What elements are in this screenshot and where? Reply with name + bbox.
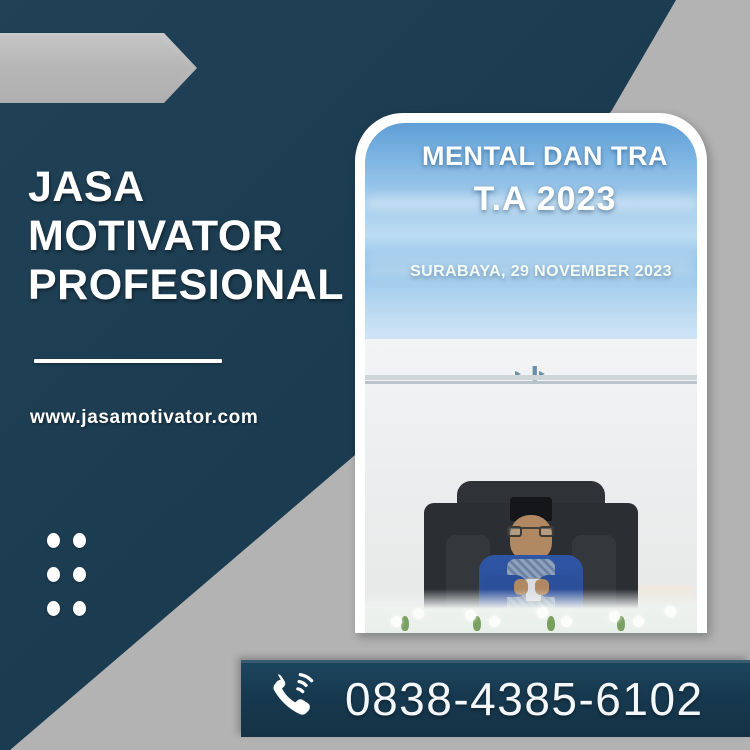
phone-number-text: 0838-4385-6102 [345, 672, 704, 726]
event-photo: MENTAL DAN TRA T.A 2023 SURABAYA, 29 NOV… [365, 123, 697, 633]
title-divider [34, 359, 222, 363]
dot [73, 567, 86, 582]
title-line-1: JASA [28, 163, 344, 212]
seated-person [421, 123, 641, 633]
contact-phone-bar[interactable]: 0838-4385-6102 [241, 660, 750, 737]
page-title: JASA MOTIVATOR PROFESIONAL [28, 163, 344, 310]
eyeglass-lens-right [539, 526, 554, 537]
eyeglass-lens-left [507, 526, 522, 537]
arrow-banner [0, 36, 191, 100]
dot [73, 601, 86, 616]
photo-card: MENTAL DAN TRA T.A 2023 SURABAYA, 29 NOV… [355, 113, 707, 633]
website-url[interactable]: www.jasamotivator.com [30, 407, 258, 429]
dot [47, 533, 60, 548]
dot-grid-decoration [47, 533, 93, 629]
dot [73, 533, 86, 548]
poster-canvas: JASA MOTIVATOR PROFESIONAL www.jasamotiv… [0, 0, 750, 750]
dot [47, 601, 60, 616]
foreground-flowers [365, 589, 697, 633]
title-line-2: MOTIVATOR [28, 212, 344, 261]
dot [47, 567, 60, 582]
title-line-3: PROFESIONAL [28, 261, 344, 310]
phone-call-icon [269, 673, 321, 725]
